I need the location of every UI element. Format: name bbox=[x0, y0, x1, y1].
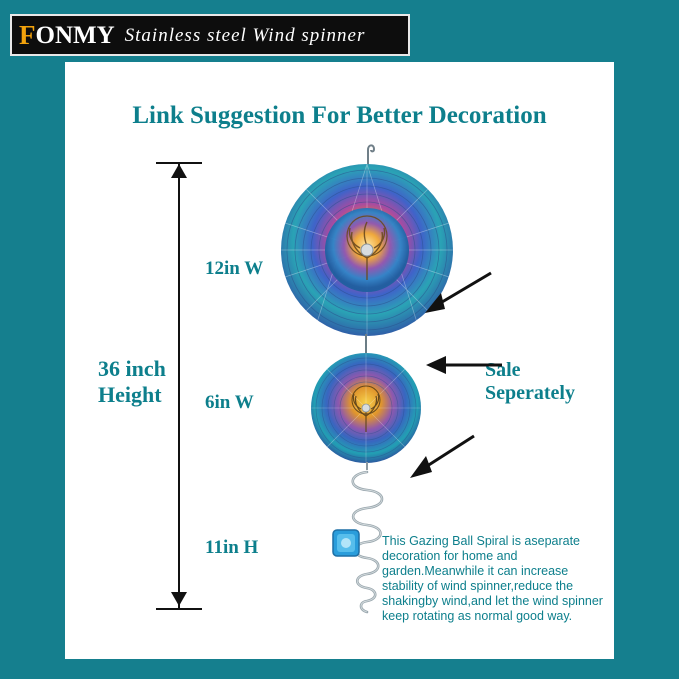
label-total-height-line2: Height bbox=[98, 382, 166, 408]
label-total-height: 36 inch Height bbox=[98, 356, 166, 408]
dimension-arrow-up-icon bbox=[171, 164, 187, 178]
callout-arrow-big-icon bbox=[415, 267, 495, 317]
dimension-arrow-down-icon bbox=[171, 592, 187, 606]
info-card: Link Suggestion For Better Decoration 36… bbox=[65, 62, 614, 659]
label-small-spinner-width: 6in W bbox=[205, 392, 254, 414]
label-big-spinner-width: 12in W bbox=[205, 258, 263, 280]
label-spiral-height: 11in H bbox=[205, 537, 258, 559]
brand-initial: F bbox=[19, 22, 36, 49]
callout-arrow-small-icon bbox=[420, 352, 505, 378]
gazing-ball-icon bbox=[333, 530, 359, 556]
callout-arrow-spiral-icon bbox=[400, 430, 480, 482]
page-title: Link Suggestion For Better Decoration bbox=[65, 102, 614, 130]
brand-tagline: Stainless steel Wind spinner bbox=[125, 26, 366, 45]
dimension-line bbox=[178, 162, 180, 609]
dimension-cap-bottom bbox=[156, 608, 202, 610]
label-total-height-line1: 36 inch bbox=[98, 356, 166, 382]
spiral-description-note: This Gazing Ball Spiral is aseparate dec… bbox=[382, 534, 610, 624]
brand-bar: F ONMY Stainless steel Wind spinner bbox=[10, 14, 410, 56]
brand-name: ONMY bbox=[36, 23, 115, 48]
